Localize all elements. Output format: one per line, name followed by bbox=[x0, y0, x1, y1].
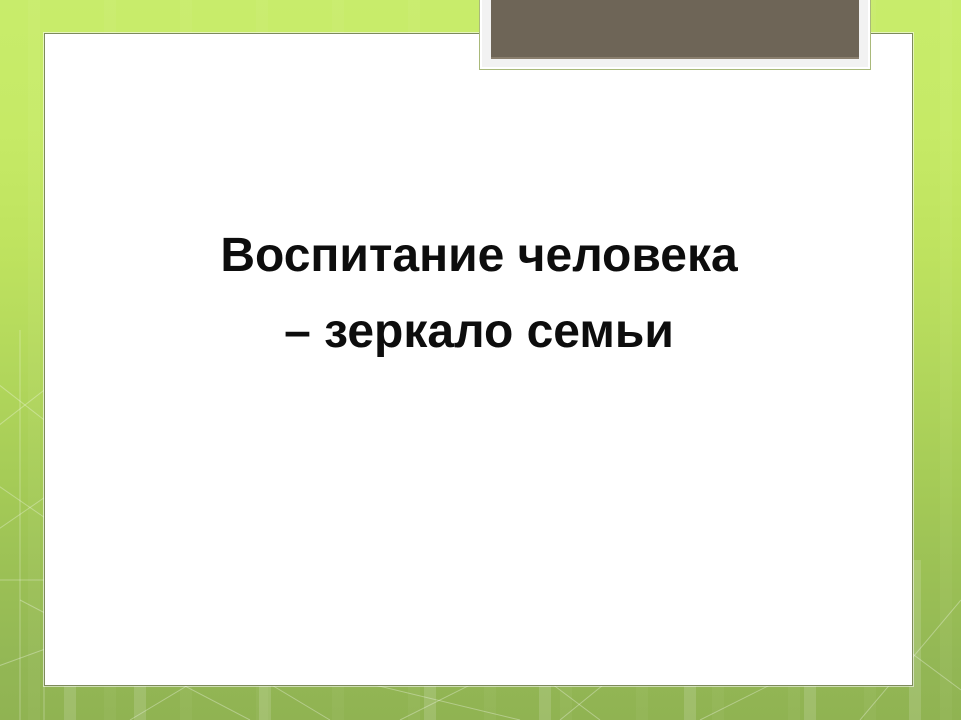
slide-title-line-2: – зеркало семьи bbox=[70, 294, 888, 370]
accent-header-block-fill bbox=[491, 0, 859, 59]
accent-header-block-inset bbox=[482, 0, 868, 67]
slide-title-line-1: Воспитание человека bbox=[70, 218, 888, 294]
presentation-slide: Воспитание человека – зеркало семьи bbox=[0, 0, 961, 720]
slide-title: Воспитание человека – зеркало семьи bbox=[70, 218, 888, 370]
accent-header-block bbox=[479, 0, 871, 70]
